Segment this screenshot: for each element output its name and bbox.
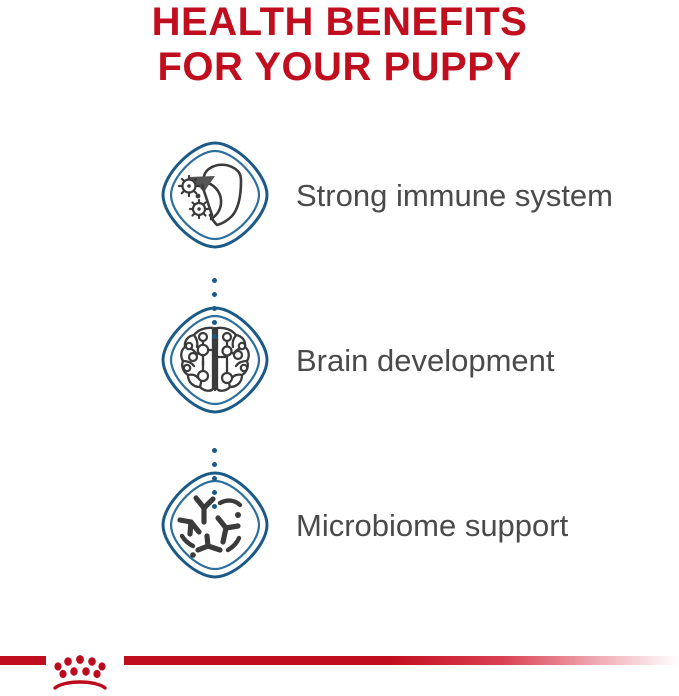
- connector-dot: [212, 334, 217, 339]
- red-rule-right: [124, 656, 679, 665]
- page-title-line-1: HEALTH BENEFITS: [0, 0, 679, 45]
- benefit-item-microbiome: Microbiome support: [0, 470, 679, 580]
- connector-dot: [212, 306, 217, 311]
- connector-dot: [212, 476, 217, 481]
- benefit-label-immune: Strong immune system: [296, 140, 679, 250]
- benefits-list: Strong immune system: [0, 140, 679, 580]
- connector-dot: [212, 490, 217, 495]
- benefit-item-brain: Brain development: [0, 305, 679, 415]
- royal-canin-crown-logo: [50, 652, 110, 692]
- benefit-label-brain: Brain development: [296, 305, 679, 415]
- connector-dot: [212, 448, 217, 453]
- page-title: HEALTH BENEFITS FOR YOUR PUPPY: [0, 0, 679, 90]
- connector-dot: [212, 462, 217, 467]
- connector-dots-2: [212, 448, 218, 518]
- benefit-label-microbiome: Microbiome support: [296, 470, 679, 580]
- shield-germ-icon: [160, 140, 270, 250]
- connector-dots-1: [212, 278, 218, 348]
- red-rule-left: [0, 656, 46, 665]
- benefit-item-immune: Strong immune system: [0, 140, 679, 250]
- connector-dot: [212, 320, 217, 325]
- page-title-line-2: FOR YOUR PUPPY: [0, 45, 679, 90]
- connector-dot: [212, 504, 217, 509]
- connector-dot: [212, 292, 217, 297]
- connector-dot: [212, 278, 217, 283]
